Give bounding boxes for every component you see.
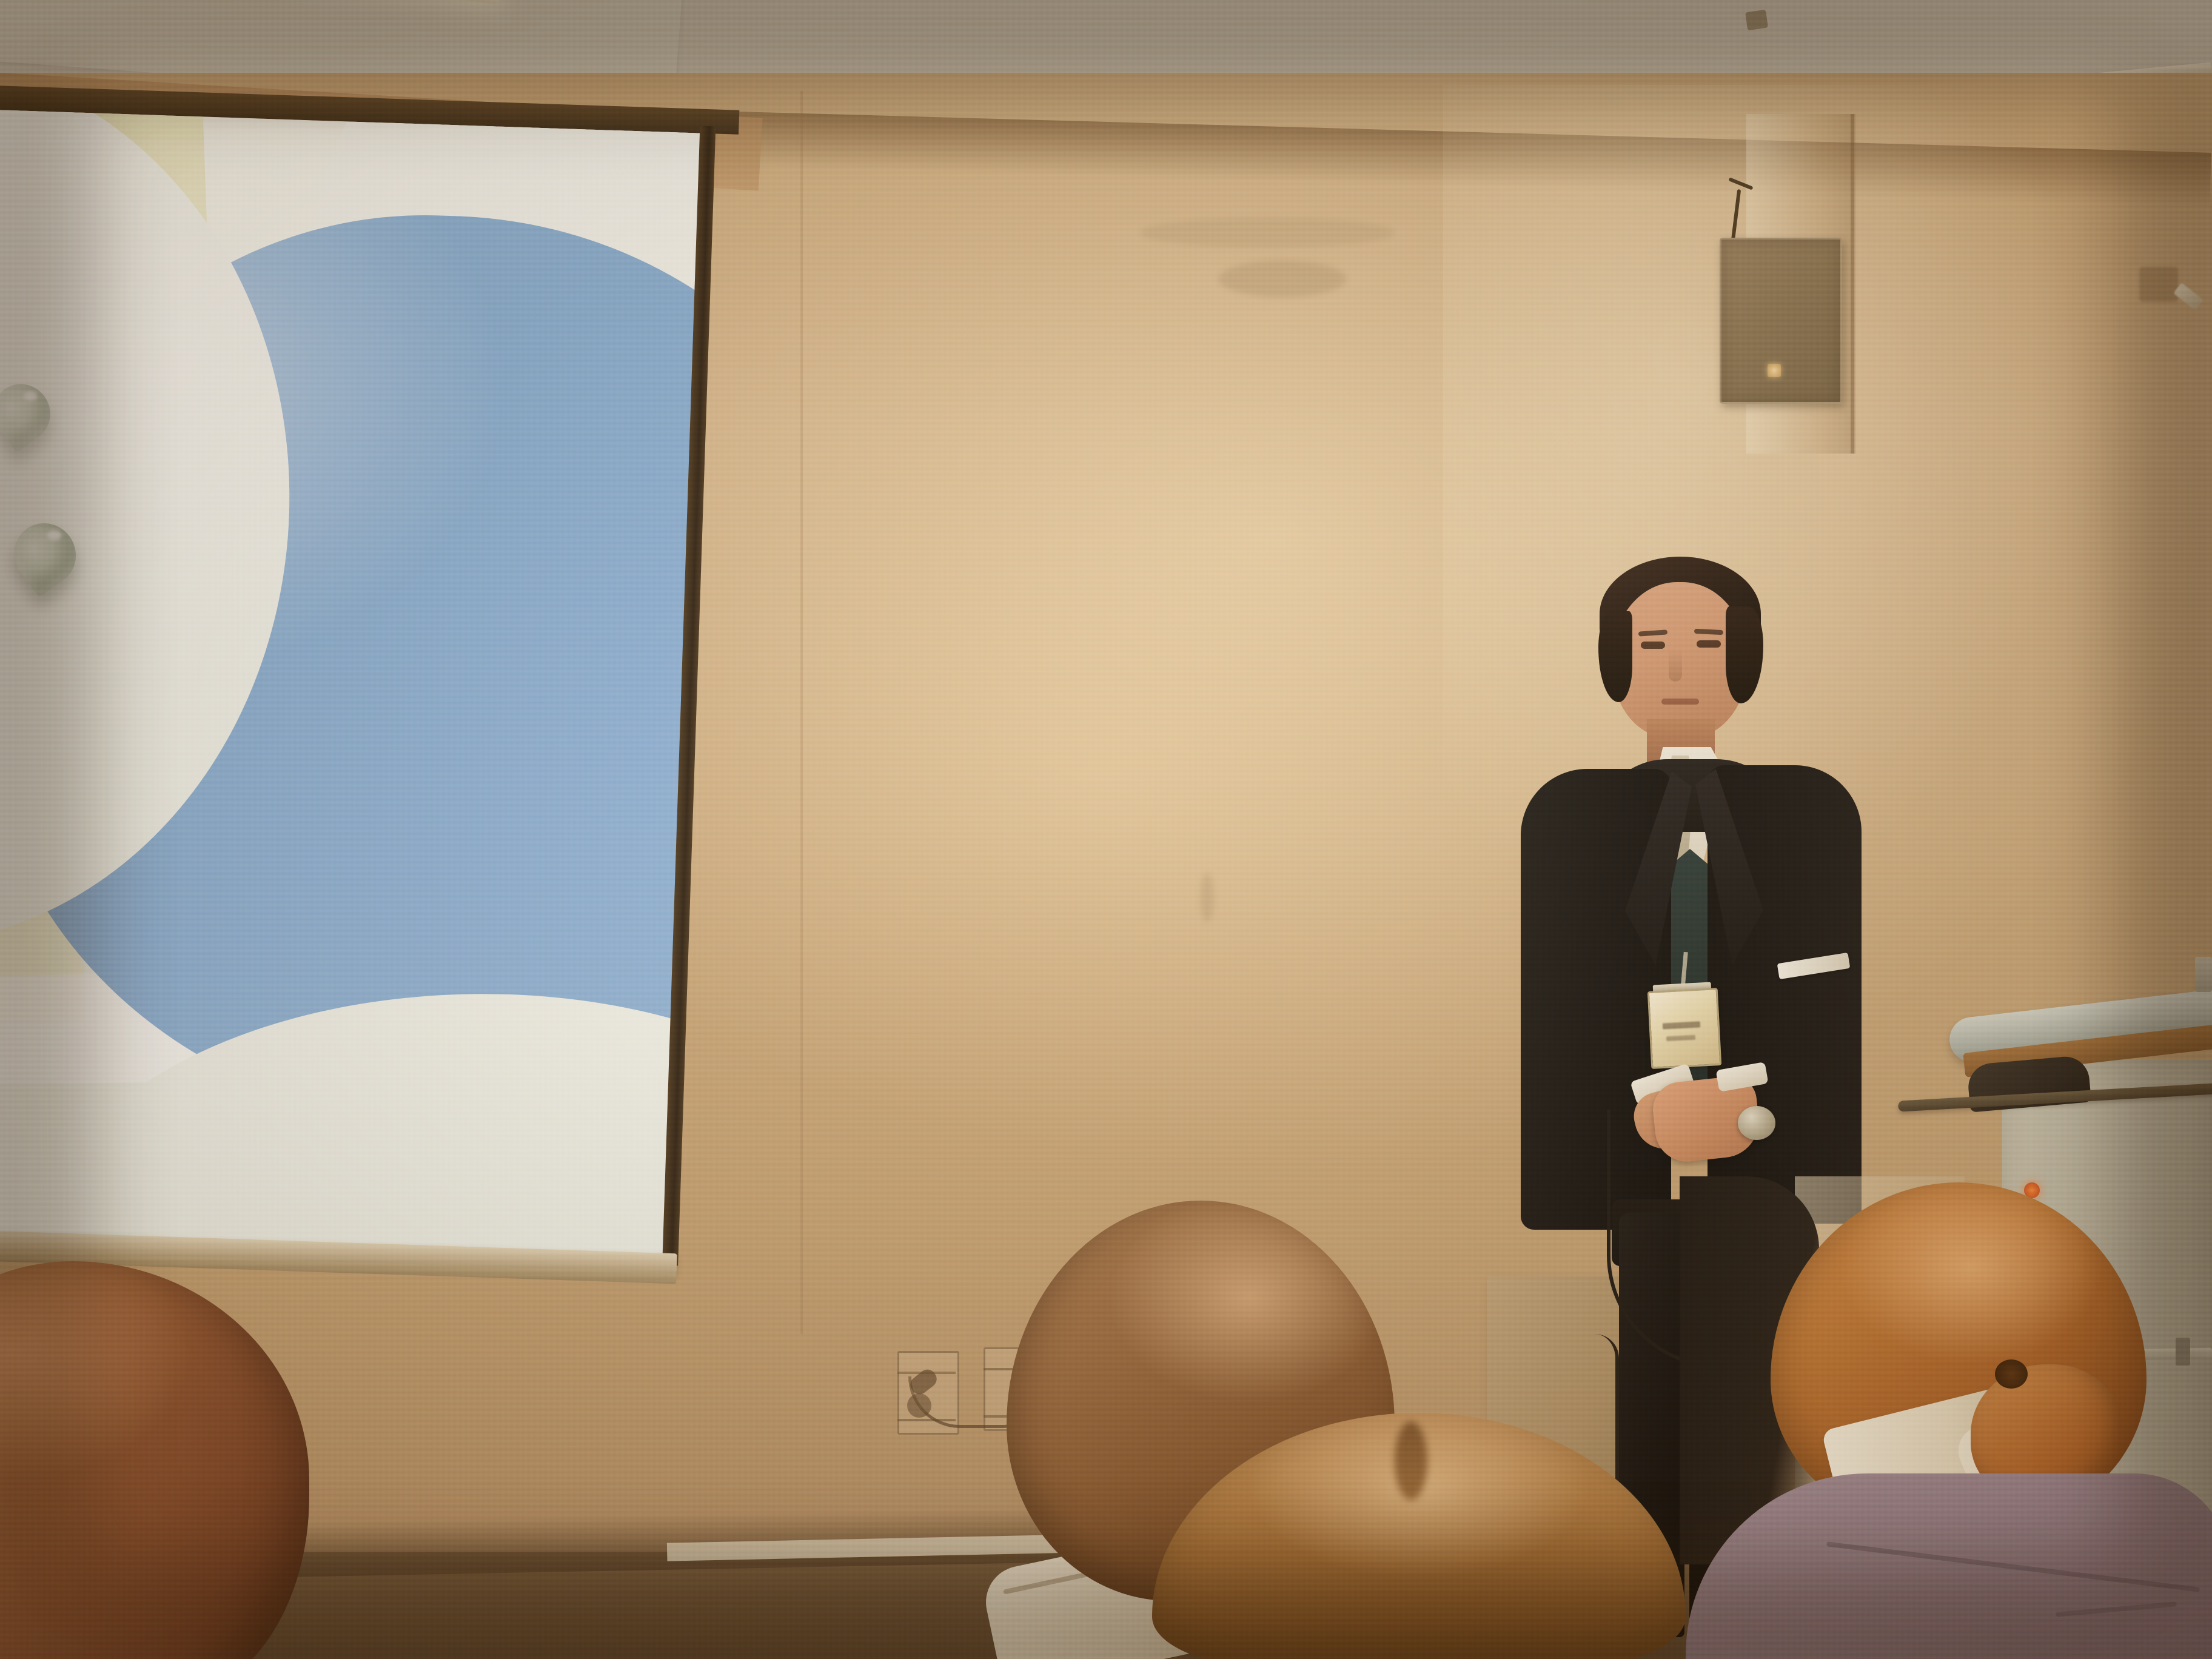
presenter-hair-side: [1598, 611, 1632, 702]
audience-hair-tie: [1995, 1359, 2028, 1389]
presenter-hair-side: [1726, 606, 1763, 703]
light-recess: [119, 0, 496, 2]
wall-seam: [800, 91, 803, 1334]
audience-member-right: [1716, 1182, 2212, 1659]
audience-member-center: [1152, 1413, 1722, 1659]
ceiling-fixture: [1745, 10, 1768, 30]
wall-smudge: [1140, 218, 1395, 247]
photo-scene: Conference presentation in a lecture roo…: [0, 0, 2212, 1659]
speaker-indicator-led: [1768, 364, 1781, 377]
presenter-eye: [1697, 640, 1721, 648]
projection-screen: [0, 85, 739, 1298]
wall-mounted-loudspeaker: [1720, 238, 1842, 404]
fluorescent-tube-icon: [114, 0, 501, 5]
outlet-plug: [907, 1393, 931, 1418]
presenter-eye: [1641, 642, 1665, 649]
audience-hair-part: [1395, 1421, 1427, 1500]
lectern-post: [2195, 957, 2212, 992]
pillar-edge: [1851, 114, 1854, 454]
handheld-microphone-icon: [1738, 1106, 1775, 1140]
audience-member-far-left: [0, 1261, 346, 1659]
projected-slide: [0, 109, 714, 1261]
audience-hair: [0, 1261, 309, 1659]
presenter-nose: [1669, 649, 1682, 682]
wall-smudge: [1219, 261, 1346, 297]
wall-sensor: [2139, 267, 2178, 302]
presenter-mouth: [1661, 699, 1699, 705]
conference-name-badge: [1647, 988, 1722, 1069]
wall-smudge: [1201, 873, 1214, 922]
